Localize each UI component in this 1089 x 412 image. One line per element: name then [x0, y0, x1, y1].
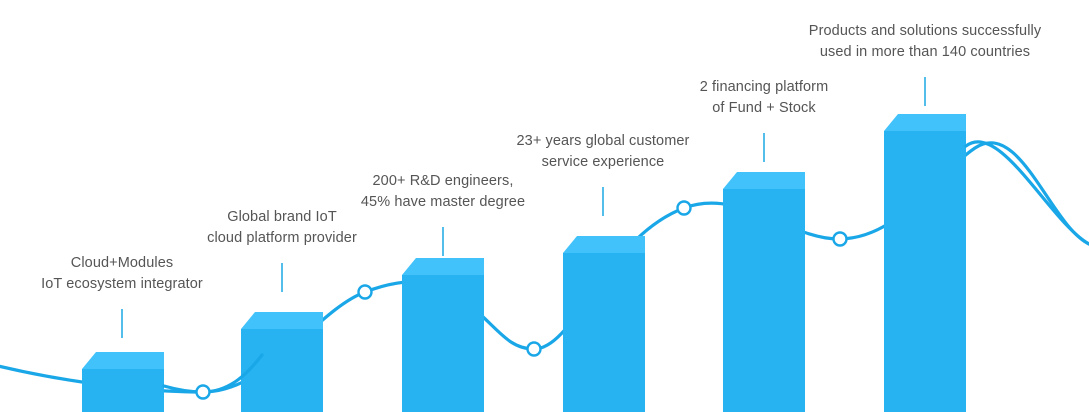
- bar-3: [402, 258, 484, 412]
- label-financing-platform-line1: 2 financing platform: [642, 77, 886, 98]
- bar-4-front: [563, 253, 645, 412]
- curve-marker-2[interactable]: [359, 286, 372, 299]
- infographic-chart: Cloud+Modules IoT ecosystem integrator G…: [0, 0, 1089, 412]
- bar-5-top: [723, 172, 805, 189]
- bar-4-top: [563, 236, 645, 253]
- bar-3-front: [402, 275, 484, 412]
- curve-marker-4[interactable]: [678, 202, 691, 215]
- label-cloud-modules-line1: Cloud+Modules: [0, 253, 244, 274]
- label-countries-line2: used in more than 140 countries: [789, 42, 1061, 63]
- label-cloud-modules-line2: IoT ecosystem integrator: [0, 274, 244, 295]
- bar-1-front: [82, 369, 164, 412]
- curve-marker-1[interactable]: [197, 386, 210, 399]
- label-countries-line1: Products and solutions successfully: [789, 21, 1061, 42]
- bar-5: [723, 172, 805, 412]
- label-cloud-modules: Cloud+Modules IoT ecosystem integrator: [0, 253, 244, 295]
- label-service-experience-line2: service experience: [481, 152, 725, 173]
- bar-3-top: [402, 258, 484, 275]
- label-global-brand-iot: Global brand IoT cloud platform provider: [160, 207, 404, 249]
- label-financing-platform: 2 financing platform of Fund + Stock: [642, 77, 886, 119]
- curve-marker-3[interactable]: [528, 343, 541, 356]
- label-financing-platform-line2: of Fund + Stock: [642, 98, 886, 119]
- label-service-experience-line1: 23+ years global customer: [481, 131, 725, 152]
- label-global-brand-iot-line2: cloud platform provider: [160, 228, 404, 249]
- label-rd-engineers-line2: 45% have master degree: [321, 192, 565, 213]
- bar-6: [884, 114, 966, 412]
- label-rd-engineers: 200+ R&D engineers, 45% have master degr…: [321, 171, 565, 213]
- label-service-experience: 23+ years global customer service experi…: [481, 131, 725, 173]
- bar-2: [241, 312, 323, 412]
- bar-1-top: [82, 352, 164, 369]
- trend-curve-overlay-right: [966, 142, 1089, 244]
- bar-6-top: [884, 114, 966, 131]
- bar-6-front: [884, 131, 966, 412]
- bar-2-top: [241, 312, 323, 329]
- bar-2-front: [241, 329, 323, 412]
- curve-marker-5[interactable]: [834, 233, 847, 246]
- bar-5-front: [723, 189, 805, 412]
- label-countries: Products and solutions successfully used…: [789, 21, 1061, 63]
- label-rd-engineers-line1: 200+ R&D engineers,: [321, 171, 565, 192]
- bar-4: [563, 236, 645, 412]
- bar-1: [82, 352, 164, 412]
